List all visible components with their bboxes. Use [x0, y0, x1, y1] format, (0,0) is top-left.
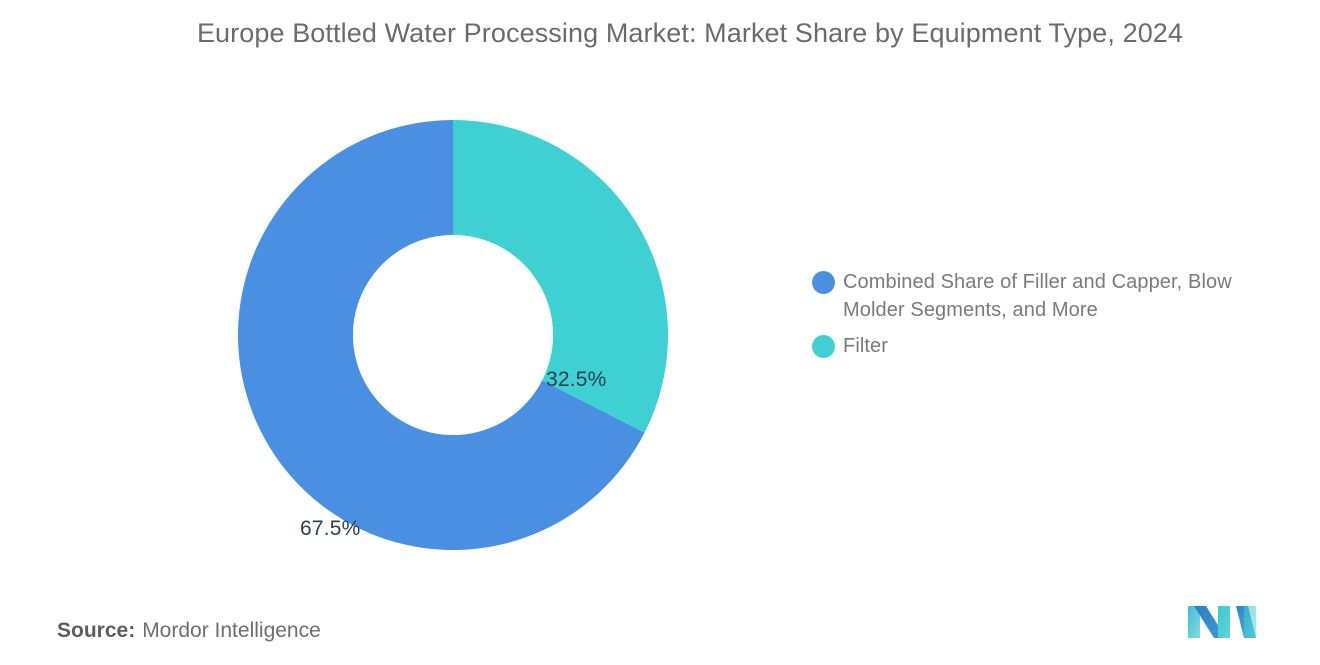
chart-title: Europe Bottled Water Processing Market: … [160, 14, 1220, 53]
chart-legend: Combined Share of Filler and Capper, Blo… [812, 268, 1292, 368]
legend-swatch-circle-icon [812, 335, 835, 358]
legend-item-filter[interactable]: Filter [812, 332, 1292, 360]
donut-label-filter: 32.5% [546, 368, 607, 392]
legend-item-combined-share[interactable]: Combined Share of Filler and Capper, Blo… [812, 268, 1292, 324]
donut-hole [353, 235, 553, 435]
donut-chart: 32.5% 67.5% [238, 120, 668, 550]
donut-svg [238, 120, 668, 550]
legend-label-combined-share: Combined Share of Filler and Capper, Blo… [843, 268, 1292, 324]
legend-label-filter: Filter [843, 332, 888, 360]
legend-swatch-circle-icon [812, 271, 835, 294]
mordor-intelligence-logo-icon [1186, 602, 1258, 642]
donut-label-combined-share: 67.5% [300, 517, 361, 541]
source-label: Source: [57, 619, 135, 642]
source-value: Mordor Intelligence [142, 619, 321, 642]
source-line: Source:Mordor Intelligence [57, 619, 321, 643]
